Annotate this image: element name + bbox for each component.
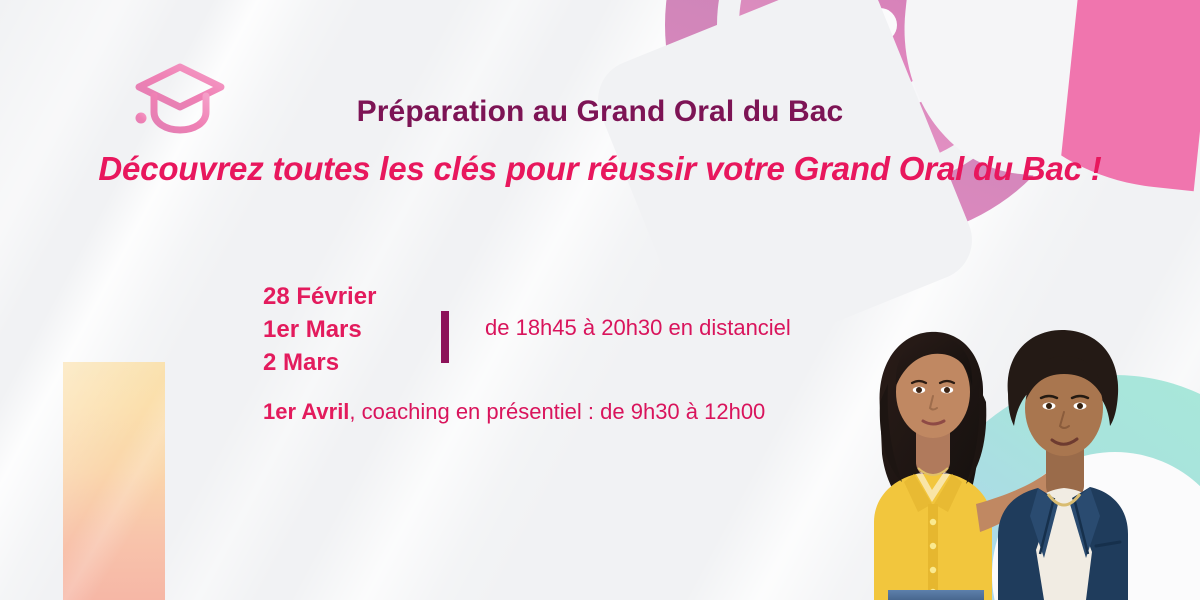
decorative-peach-sheen (63, 362, 165, 600)
event-banner: Préparation au Grand Oral du Bac Découvr… (0, 0, 1200, 600)
students-photo (858, 290, 1138, 600)
vertical-divider (441, 311, 449, 363)
onsite-date: 1er Avril (263, 399, 349, 424)
online-time-text: de 18h45 à 20h30 en distanciel (485, 315, 791, 341)
page-subtitle: Découvrez toutes les clés pour réussir v… (0, 150, 1200, 188)
onsite-session-row: 1er Avril, coaching en présentiel : de 9… (263, 399, 903, 425)
schedule-details: 28 Février 1er Mars 2 Mars de 18h45 à 20… (263, 280, 903, 425)
ring-core (863, 8, 897, 42)
onsite-text: , coaching en présentiel : de 9h30 à 12h… (349, 399, 765, 424)
online-dates-list: 28 Février 1er Mars 2 Mars (263, 280, 441, 379)
list-item: 28 Février (263, 280, 441, 313)
ring-middle (739, 0, 1021, 166)
list-item: 2 Mars (263, 346, 441, 379)
list-item: 1er Mars (263, 313, 441, 346)
decorative-peach-bar (63, 362, 165, 600)
page-title: Préparation au Grand Oral du Bac (0, 95, 1200, 129)
ring-inner (815, 0, 945, 90)
online-session-row: 28 Février 1er Mars 2 Mars de 18h45 à 20… (263, 280, 903, 379)
